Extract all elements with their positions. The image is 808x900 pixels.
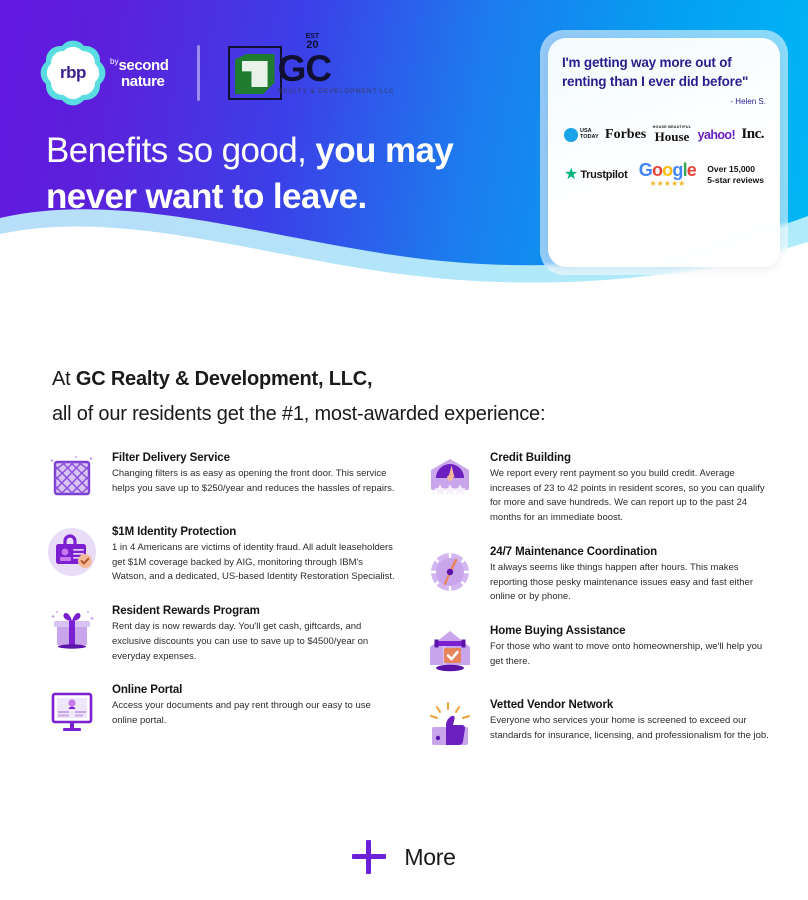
yahoo-logo: yahoo! xyxy=(698,128,735,142)
testimonial-quote: I'm getting way more out of renting than… xyxy=(562,54,766,91)
benefit-title: Resident Rewards Program xyxy=(112,605,396,617)
plus-icon xyxy=(352,840,386,874)
google-star-rating-icon: ★★★★★ xyxy=(639,180,696,188)
usa-today-text: USA TODAY xyxy=(580,129,599,141)
thumbs-up-icon xyxy=(422,697,478,753)
house-sold-sign-icon xyxy=(422,623,478,679)
benefit-title: $1M Identity Protection xyxy=(112,526,396,538)
benefit-text: Resident Rewards Program Rent day is now… xyxy=(112,603,396,664)
benefit-item: $1M Identity Protection 1 in 4 Americans… xyxy=(44,524,396,585)
google-reviews-logo: Google ★★★★★ xyxy=(639,161,696,188)
benefit-item: Home Buying Assistance For those who wan… xyxy=(422,623,774,679)
benefit-description: It always seems like things happen after… xyxy=(490,561,774,605)
benefit-item: Vetted Vendor Network Everyone who servi… xyxy=(422,697,774,753)
benefit-description: Everyone who services your home is scree… xyxy=(490,714,774,743)
second-nature-wordmark: bysecond nature xyxy=(110,58,169,89)
benefit-description: 1 in 4 Americans are victims of identity… xyxy=(112,541,396,585)
benefit-description: Changing filters is as easy as opening t… xyxy=(112,467,396,496)
brand-logos: rbp bysecond nature EST 20 xyxy=(44,44,395,102)
reviews-count-line1: Over 15,000 xyxy=(707,164,764,175)
main-headline-line1: At GC Realty & Development, LLC, xyxy=(52,362,752,397)
benefit-text: Home Buying Assistance For those who wan… xyxy=(490,623,774,679)
gc-lettering: EST 20 GC REALTY & DEVELOPMENT LLC xyxy=(278,51,395,94)
rbp-wordmark: rbp xyxy=(60,63,86,83)
more-label: More xyxy=(404,844,455,871)
by-label: by xyxy=(110,58,118,66)
logo-divider xyxy=(197,45,200,101)
google-letter-g1: G xyxy=(639,160,652,180)
benefit-item: 24/7 Maintenance Coordination It always … xyxy=(422,544,774,605)
benefit-item: Credit Building We report every rent pay… xyxy=(422,450,774,526)
gc-est-year: 20 xyxy=(306,40,320,51)
headline-brand: GC Realty & Development, LLC, xyxy=(76,368,372,390)
reviews-count-text: Over 15,000 5-star reviews xyxy=(707,164,764,185)
id-badge-lock-icon xyxy=(44,524,100,580)
press-logo-row: USA TODAY Forbes HOUSE BEAUTIFUL House y… xyxy=(562,126,766,143)
benefit-item: Online Portal Access your documents and … xyxy=(44,682,396,738)
google-letter-o2: o xyxy=(662,160,672,180)
benefit-title: Credit Building xyxy=(490,452,774,464)
testimonial-card-frame: I'm getting way more out of renting than… xyxy=(540,30,788,275)
hero-headline-line2: never want to leave. xyxy=(46,174,453,220)
benefit-description: We report every rent payment so you buil… xyxy=(490,467,774,526)
reviews-count-line2: 5-star reviews xyxy=(707,175,764,186)
benefit-title: Filter Delivery Service xyxy=(112,452,396,464)
rbp-logo: rbp xyxy=(44,44,102,102)
benefit-description: For those who want to move onto homeowne… xyxy=(490,640,774,669)
hero-headline-line1-bold: you may xyxy=(315,131,453,170)
benefit-title: 24/7 Maintenance Coordination xyxy=(490,546,774,558)
google-letter-o1: o xyxy=(652,160,662,180)
ratings-row: ★ Trustpilot Google ★★★★★ Over 15,000 5-… xyxy=(562,161,766,188)
benefit-text: Vetted Vendor Network Everyone who servi… xyxy=(490,697,774,753)
main-headline: At GC Realty & Development, LLC, all of … xyxy=(52,362,752,432)
gc-subtitle: REALTY & DEVELOPMENT LLC xyxy=(278,88,395,95)
benefit-description: Access your documents and pay rent throu… xyxy=(112,699,396,728)
headline-prefix: At xyxy=(52,368,76,390)
main-headline-line2: all of our residents get the #1, most-aw… xyxy=(52,397,752,432)
gc-realty-logo: EST 20 GC REALTY & DEVELOPMENT LLC xyxy=(228,46,395,100)
benefit-title: Online Portal xyxy=(112,684,396,696)
benefit-text: Online Portal Access your documents and … xyxy=(112,682,396,738)
benefit-title: Home Buying Assistance xyxy=(490,625,774,637)
google-letter-g2: g xyxy=(672,160,682,180)
house-beautiful-logo: HOUSE BEAUTIFUL House xyxy=(653,126,692,143)
clock-icon xyxy=(422,544,478,600)
testimonial-author: - Helen S. xyxy=(562,97,766,106)
benefits-right-column: Credit Building We report every rent pay… xyxy=(422,450,774,771)
nature-label: nature xyxy=(121,74,169,89)
benefit-text: $1M Identity Protection 1 in 4 Americans… xyxy=(112,524,396,585)
benefit-description: Rent day is now rewards day. You'll get … xyxy=(112,620,396,664)
house-beautiful-main-text: House xyxy=(653,130,692,143)
testimonial-card: I'm getting way more out of renting than… xyxy=(548,38,780,267)
forbes-logo: Forbes xyxy=(605,127,646,143)
benefits-left-column: Filter Delivery Service Changing filters… xyxy=(44,450,396,771)
gc-book-mark xyxy=(228,46,282,100)
credit-score-badge-icon xyxy=(422,450,478,506)
benefits-columns: Filter Delivery Service Changing filters… xyxy=(44,450,774,771)
desktop-monitor-icon xyxy=(44,682,100,738)
usa-today-logo: USA TODAY xyxy=(564,128,599,142)
benefit-text: Credit Building We report every rent pay… xyxy=(490,450,774,526)
benefit-item: Filter Delivery Service Changing filters… xyxy=(44,450,396,506)
gift-box-icon xyxy=(44,603,100,659)
inc-logo: Inc. xyxy=(741,126,764,143)
benefit-text: 24/7 Maintenance Coordination It always … xyxy=(490,544,774,605)
hero-headline-line1-light: Benefits so good, xyxy=(46,131,315,170)
google-wordmark: Google xyxy=(639,161,696,179)
gc-established-badge: EST 20 xyxy=(306,33,320,51)
air-filter-icon xyxy=(44,450,100,506)
benefit-item: Resident Rewards Program Rent day is now… xyxy=(44,603,396,664)
hero-banner: rbp bysecond nature EST 20 xyxy=(0,0,808,300)
more-benefits-row[interactable]: More xyxy=(0,840,808,874)
gc-wordmark: GC xyxy=(278,51,395,86)
benefit-text: Filter Delivery Service Changing filters… xyxy=(112,450,396,506)
usa-today-dot-icon xyxy=(564,128,578,142)
trustpilot-logo: ★ Trustpilot xyxy=(564,167,627,183)
trustpilot-text: Trustpilot xyxy=(580,169,627,181)
trustpilot-star-icon: ★ xyxy=(564,167,578,183)
second-label: second xyxy=(118,58,168,73)
benefits-flyer-page: rbp bysecond nature EST 20 xyxy=(0,0,808,900)
hero-headline: Benefits so good, you may never want to … xyxy=(46,128,453,219)
usa-today-line2: TODAY xyxy=(580,135,599,141)
google-letter-e: e xyxy=(687,160,696,180)
benefit-title: Vetted Vendor Network xyxy=(490,699,774,711)
